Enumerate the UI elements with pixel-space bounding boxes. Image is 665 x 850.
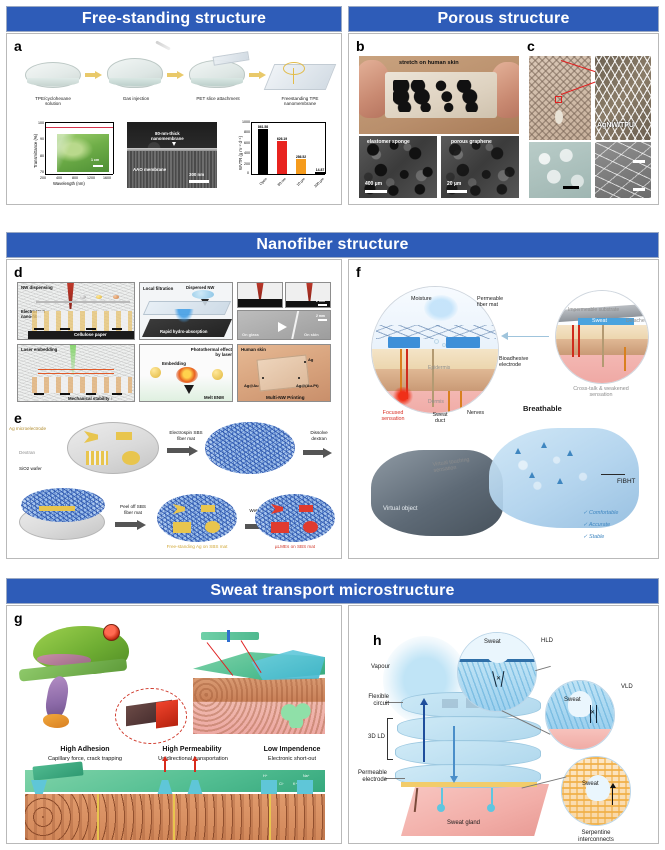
label-sweat-gland: Sweat gland xyxy=(447,820,480,827)
transmittance-plot: 1 cm 100 90 80 70 200 400 800 1200 1600 … xyxy=(25,120,117,188)
marker-label-agau: Ag@Au xyxy=(244,383,259,388)
flow-arrow-4 xyxy=(529,472,535,478)
leaf-scale-bar xyxy=(93,165,103,167)
crack-channel-2 xyxy=(173,794,175,840)
feature-title-permeability: High Permeability xyxy=(139,746,245,753)
photothermal-hotspot xyxy=(176,367,198,383)
hld-sweat-blob xyxy=(488,651,508,663)
label-3d-ld: 3D LD xyxy=(355,734,385,741)
sbs-fiber-mat-2 xyxy=(157,494,237,542)
bar-value-10um: 286.52 xyxy=(289,155,313,159)
nozzle-icon-2 xyxy=(305,282,314,301)
scale-tick-4 xyxy=(112,328,122,330)
fibht-leader xyxy=(601,474,625,475)
label-virtual-object: Virtual object xyxy=(383,506,418,513)
sem-top-arrow-icon xyxy=(172,142,176,146)
inset-label-glass: On glass xyxy=(242,332,259,337)
process-arrow-2-tail xyxy=(167,73,177,77)
scale-tick-3 xyxy=(86,328,96,330)
bar-cat-open: Open xyxy=(249,177,267,195)
dish-3-liquid xyxy=(191,78,243,86)
step-arrow-2 xyxy=(323,448,332,458)
panel-label-c: c xyxy=(527,38,535,54)
tile-title-human-skin: Human skin xyxy=(241,347,266,352)
panel-de: d NW dispensing Electrospun nano-fiber C… xyxy=(6,259,342,559)
process-arrow-1-tail xyxy=(85,73,95,77)
annotation-ag-microelectrode: Ag microelectrode xyxy=(9,426,71,432)
electrode-pattern-3 xyxy=(86,451,108,465)
circle-connector-arrow xyxy=(501,332,508,340)
step-arrow-1-tail xyxy=(167,448,189,453)
laser-beam-icon xyxy=(66,345,80,375)
tile-nw-dispensing: NW dispensing Electrospun nano-fiber Cel… xyxy=(17,282,135,340)
panel-a: a TPE/cyclohexane solution Gas injection… xyxy=(6,33,342,205)
process-arrow-2 xyxy=(177,71,184,79)
electrode-gold-film xyxy=(401,782,537,787)
sem-scale-bar xyxy=(189,180,209,183)
electrode-pattern-1 xyxy=(84,431,98,443)
ion-label-cl: Cl⁻ xyxy=(279,782,284,786)
particle-agau-nw xyxy=(96,295,102,299)
ion-label-h: H⁺ xyxy=(263,774,268,778)
transport-arrow-up-head xyxy=(420,698,428,705)
x-tick-1200: 1200 xyxy=(87,176,95,180)
label-permeable-fiber-mat: Permeable fiber mat xyxy=(477,296,531,309)
graphene-caption: porous graphene xyxy=(451,139,492,145)
nerve-right-2 xyxy=(460,391,462,414)
section-title: Sweat transport microstructure xyxy=(210,582,454,600)
ag-feature-3 xyxy=(173,522,191,533)
focused-sensation-glow xyxy=(392,387,414,405)
au-particle-left xyxy=(150,367,161,378)
lm-feature-3 xyxy=(271,522,289,533)
process-caption-1: TPE/cyclohexane solution xyxy=(17,96,89,107)
marker-ag xyxy=(304,361,306,363)
sponge-scale-label: 400 µm xyxy=(365,181,382,187)
nozzle-scale-label: 2 mm xyxy=(316,299,325,303)
melt-arrow-icon xyxy=(184,385,194,394)
tile-sub-embedding: Embedding xyxy=(162,361,186,366)
step-label-peel-off: Peel off SBS fiber mat xyxy=(111,504,155,515)
leader-hld xyxy=(535,666,551,671)
wvtr-tick-200: 200 xyxy=(244,162,250,166)
epidermis-layer xyxy=(372,369,498,391)
sem-nanowire-scale-bar-1 xyxy=(633,160,645,163)
x-tick-200: 200 xyxy=(40,176,46,180)
process-caption-3: PET slice attachment xyxy=(179,96,257,101)
transmittance-curve xyxy=(46,127,113,128)
sweat-duct-1 xyxy=(441,788,443,806)
wvtr-y-title: WVTR (g m⁻² d⁻¹) xyxy=(238,136,243,170)
sample-feature xyxy=(555,110,563,124)
hld-x-mark: ✕ xyxy=(496,675,501,682)
tile-photothermal: Photothermal effect by laser Embedding M… xyxy=(139,344,233,402)
panel-label-f: f xyxy=(356,264,361,280)
sem-top-label: 80-nm-thick nanomembrane xyxy=(151,131,184,142)
sponge-scale-bar xyxy=(365,190,387,193)
perm-arrow-2 xyxy=(192,756,198,761)
stretch-caption: stretch on human skin xyxy=(399,60,459,66)
frog-eye xyxy=(103,624,120,641)
tile-title-photothermal: Photothermal effect by laser xyxy=(180,347,232,358)
dispensing-nozzle-icon xyxy=(66,283,75,309)
impermeable-electrode-circle: ✕ Impermeable substrate Sweat Detached xyxy=(555,290,649,384)
electrode-pattern-2 xyxy=(116,432,132,440)
bioadhesive-electrode-right xyxy=(446,337,480,348)
agnw-tpu-caption: AgNW/TPU xyxy=(597,122,634,129)
bioadhesive-electrode-left xyxy=(388,337,420,348)
tile-laser-embedding: Laser embedding Mechanical stability ↑ xyxy=(17,344,135,402)
emb-scale-tick-3 xyxy=(86,393,96,395)
circuit-chip-1 xyxy=(442,699,458,708)
y-tick-70: 70 xyxy=(40,170,44,174)
label-moisture: Moisture xyxy=(411,296,432,302)
ion-channel-cluster xyxy=(279,702,313,728)
bar-value-80nm: 626.19 xyxy=(270,137,294,141)
label-vld: VLD xyxy=(621,684,633,691)
electrode-array xyxy=(393,80,489,112)
crosstalk-path-1 xyxy=(572,325,574,357)
bar-value-200um: 14.87 xyxy=(308,168,332,172)
section-banner-porous: Porous structure xyxy=(348,6,659,32)
emb-scale-tick-4 xyxy=(112,393,122,395)
embedded-fibers xyxy=(32,377,132,393)
leaf-scale-label: 1 cm xyxy=(91,158,99,162)
syringe-needle xyxy=(155,40,171,50)
graphene-scale-label: 20 µm xyxy=(447,181,461,187)
hld-circle: ✕ Sweat xyxy=(457,632,537,712)
ion-label-na: Na⁺ xyxy=(303,774,310,778)
perm-arrow-1 xyxy=(162,756,168,761)
feature-title-adhesion: High Adhesion xyxy=(31,746,139,753)
photo-nozzle-1 xyxy=(237,282,283,308)
lm-feature-2 xyxy=(299,505,313,512)
step-arrow-3 xyxy=(137,520,146,530)
feature-sub-adhesion: Capillary force, crack trapping xyxy=(25,756,145,762)
graphene-scale-bar xyxy=(447,190,467,193)
label-hld-sweat: Sweat xyxy=(484,639,501,646)
membrane-strip-marker xyxy=(227,630,230,642)
crosstalk-path-2 xyxy=(578,325,580,357)
panel-label-g: g xyxy=(14,610,23,626)
panel-label-h: h xyxy=(373,632,382,648)
bar-cat-200um: 200 µm xyxy=(306,177,324,195)
wvtr-tick-600: 600 xyxy=(244,141,250,145)
inset-circle-dashed xyxy=(115,688,187,744)
bracket-3d-ld xyxy=(387,718,393,760)
label-dermis: Dermis xyxy=(428,399,444,405)
caption-lmes-on-sbs: µLMEs on SBS mat xyxy=(255,544,335,550)
step-arrow-1 xyxy=(189,446,198,456)
wvtr-plot-area xyxy=(251,122,325,174)
process-caption-2: Gas injection xyxy=(101,96,171,101)
label-vapour: Vapour xyxy=(371,664,390,671)
circle-connector xyxy=(507,336,549,337)
marker-agau xyxy=(262,377,264,379)
sio2-wafer xyxy=(67,422,159,474)
y-tick-80: 80 xyxy=(40,154,44,158)
membrane-strip xyxy=(201,632,259,640)
stretch-photo: stretch on human skin xyxy=(359,56,519,134)
ag-feature-1 xyxy=(173,504,185,514)
panel-label-a: a xyxy=(14,38,22,54)
crack-channel-1 xyxy=(97,794,99,840)
plot-top-spine xyxy=(45,122,113,123)
plot-y-title: Transmittance (%) xyxy=(33,134,38,168)
label-epidermis: Epidermis xyxy=(428,365,450,371)
scale-tick-1 xyxy=(34,328,44,330)
label-sweat-duct: Sweat duct xyxy=(423,412,457,425)
emb-scale-tick-2 xyxy=(60,393,70,395)
bar-200um xyxy=(315,172,325,174)
feature-sub-impedance: Electronic short-out xyxy=(243,756,341,762)
panel-bc: b c stretch on human skin elastomer spon… xyxy=(348,33,659,205)
tile-footer-melt-enm: Melt ENM xyxy=(204,395,224,400)
marker-label-agaupt: Ag@(Au-Pt) xyxy=(296,383,319,388)
ag-on-mat xyxy=(39,506,75,511)
tile-human-skin: Human skin Ag Ag@Au Ag@(Au-Pt) Multi-NW … xyxy=(237,344,331,402)
label-fibht: FIBHT xyxy=(617,478,635,486)
tile-footer-multi-nw: Multi-NW Printing xyxy=(266,395,305,400)
freestanding-ring xyxy=(283,62,305,75)
serp-arrow-head xyxy=(610,783,616,788)
printed-line-scale-bar xyxy=(318,319,327,321)
section-banner-sweat: Sweat transport microstructure xyxy=(6,578,659,604)
serpentine-circle: Sweat xyxy=(561,756,631,826)
label-serpentine: Serpentine interconnects xyxy=(565,830,627,844)
vld-x-mark: ✕ xyxy=(590,709,595,716)
label-breathable: Breathable xyxy=(523,404,562,413)
moisture-droplet-1 xyxy=(434,339,439,344)
freestanding-pointer xyxy=(293,68,294,84)
step-label-dissolve: Dissolve dextran xyxy=(299,430,339,441)
wvtr-tick-400: 400 xyxy=(244,151,250,155)
panel-label-b: b xyxy=(356,38,365,54)
transport-arrow-down-head xyxy=(450,776,458,783)
flow-arrow-3 xyxy=(567,450,573,456)
sponge-caption: elastomer sponge xyxy=(367,139,410,145)
graphene-pores xyxy=(441,136,519,198)
tile-title-laser-embedding: Laser embedding xyxy=(21,347,57,352)
wvtr-tick-0: 0 xyxy=(247,171,249,175)
section-banner-free-standing: Free-standing structure xyxy=(6,6,342,32)
tile-footer-filtration: Rapid hydro-absorption xyxy=(160,329,207,334)
bar-open xyxy=(258,129,268,174)
bar-cat-10um: 10 µm xyxy=(287,177,305,195)
agnw-overview-image xyxy=(529,56,591,140)
au-particle-right xyxy=(212,369,223,380)
transport-arrow-down-shaft xyxy=(453,726,455,778)
plot-y-axis-right xyxy=(113,122,114,174)
dispensing-rail xyxy=(36,301,130,303)
sem-pore-image xyxy=(529,142,591,198)
flow-arrow-5 xyxy=(557,478,563,484)
sweat-duct-right xyxy=(602,325,604,367)
label-detached: Detached xyxy=(626,318,647,324)
nerve-right-1 xyxy=(448,391,450,414)
sweat-duct-2 xyxy=(491,788,493,806)
x-tick-1600: 1600 xyxy=(103,176,111,180)
panel-h: h Vapour Flexible circuit 3D LD Permeabl… xyxy=(348,605,659,844)
sem-nanowire-scale-bar-2 xyxy=(633,188,645,191)
lm-feature-1 xyxy=(271,504,283,514)
leader-permeable-electrode xyxy=(385,778,405,779)
transfer-arrow-icon xyxy=(278,322,287,332)
tile-footer-cellulose: Cellulose paper xyxy=(74,332,107,337)
label-permeable-electrode: Permeable electrode xyxy=(353,770,387,784)
annotation-sio2-wafer: SiO2 wafer xyxy=(19,466,63,472)
x-tick-400: 400 xyxy=(56,176,62,180)
label-hld: HLD xyxy=(541,638,553,645)
step-label-electrospin: Electrospin SBS fiber mat xyxy=(163,430,209,441)
lm-feature-4 xyxy=(303,521,318,533)
sem-elastomer-sponge: elastomer sponge 400 µm xyxy=(359,136,437,198)
photo-nozzle-2: 2 mm xyxy=(285,282,331,308)
sbs-fiber-mat-3 xyxy=(255,494,335,542)
inset-label-skin: On skin xyxy=(304,332,319,337)
marker-label-ag: Ag xyxy=(308,357,313,362)
plot-y-axis xyxy=(45,122,46,174)
printed-line-scale-label: 2 mm xyxy=(316,314,325,318)
vld-circle: ✕ Sweat xyxy=(545,680,615,750)
wvtr-tick-1000: 1000 xyxy=(242,120,250,124)
panel-label-e: e xyxy=(14,410,22,426)
dish-2-liquid xyxy=(109,78,161,86)
ld-layer-2 xyxy=(395,740,541,766)
nozzle-icon-1 xyxy=(255,282,265,299)
frog-foot xyxy=(43,714,69,728)
figure-root: Free-standing structure Porous structure… xyxy=(0,0,665,850)
caption-free-standing-ag: Free-standing Ag on SBS mat xyxy=(157,544,237,550)
x-tick-800: 800 xyxy=(72,176,78,180)
tile-local-filtration: Local filtration Dispersed NW Rapid hydr… xyxy=(139,282,233,340)
process-arrow-1 xyxy=(95,71,102,79)
process-arrow-3-tail xyxy=(249,73,259,77)
nozzle-scale-bar xyxy=(318,304,327,306)
benefit-comfortable: ✓ Comfortable xyxy=(583,510,618,516)
moisture-droplet-2 xyxy=(442,343,446,347)
sem-bottom-label: AAO membrane xyxy=(133,167,166,172)
photo-printed-line: On glass On skin 2 mm xyxy=(237,310,331,340)
emb-scale-tick-1 xyxy=(34,393,44,395)
sem-porous-graphene: porous graphene 20 µm xyxy=(441,136,519,198)
section-banner-nanofiber: Nanofiber structure xyxy=(6,232,659,258)
adhesion-block-red xyxy=(156,699,178,728)
label-serp-sweat: Sweat xyxy=(582,781,599,788)
plot-x-title: Wavelength (nm) xyxy=(53,181,85,186)
sem-scale-label: 300 nm xyxy=(189,172,204,177)
plot-x-axis xyxy=(45,174,113,175)
sponge-pores xyxy=(359,136,437,198)
laser-scan-line-2 xyxy=(38,373,114,374)
ag-feature-4 xyxy=(205,521,220,533)
skin-base xyxy=(401,784,549,836)
benefit-accurate: ✓ Accurate xyxy=(583,522,610,528)
label-nerves: Nerves xyxy=(467,410,484,416)
panel-g: g High Adhesion Capillary force, crack t… xyxy=(6,605,342,844)
bar-value-open: 861.58 xyxy=(251,125,275,129)
vld-skin-layer xyxy=(546,729,615,750)
step-arrow-3-tail xyxy=(115,522,137,527)
wvtr-chart: 1000 800 600 400 200 0 861.58 626.19 286… xyxy=(229,120,334,190)
ion-label-k: K⁺ xyxy=(293,782,297,786)
dish-1-liquid xyxy=(27,78,79,86)
hld-fiber-layer xyxy=(458,662,536,712)
check-icon-left: ✓ xyxy=(382,305,387,312)
process-arrow-3 xyxy=(259,71,266,79)
ag-feature-2 xyxy=(201,505,215,512)
marker-agaupt xyxy=(298,377,300,379)
ion-path-anchor-1 xyxy=(261,780,277,794)
label-bioadhesive-electrode: Bioadhesive electrode xyxy=(499,356,551,369)
cross-icon-right: ✕ xyxy=(562,295,567,302)
wvtr-tick-800: 800 xyxy=(244,130,250,134)
bar-10um xyxy=(296,159,306,174)
panel-f: f ✓ Epidermis Dermis Moisture Permeable … xyxy=(348,259,659,559)
wvtr-x-axis xyxy=(251,174,325,175)
sem-nanowire-image xyxy=(595,142,651,198)
perm-arrow-1-tail xyxy=(164,760,166,772)
bar-cat-80nm: 80 nm xyxy=(268,177,286,195)
crack-channel-3 xyxy=(269,794,271,840)
label-vld-sweat: Sweat xyxy=(564,697,581,704)
label-flexible-circuit: Flexible circuit xyxy=(355,694,389,708)
perm-arrow-2-tail xyxy=(194,760,196,772)
flow-arrow-1 xyxy=(515,448,521,454)
serp-arrow-shaft xyxy=(612,787,613,805)
transport-arrow-up-shaft xyxy=(423,702,425,762)
step-arrow-2-tail xyxy=(303,450,323,455)
absorption-flow xyxy=(174,309,194,323)
agnw-zoom-image: AgNW/TPU xyxy=(595,56,651,140)
sem-pore-scale-bar xyxy=(563,186,579,189)
bar-80nm xyxy=(277,141,287,174)
y-tick-100: 100 xyxy=(38,121,44,125)
section-title: Nanofiber structure xyxy=(256,236,408,254)
benefit-stable: ✓ Stable xyxy=(583,534,604,540)
caption-crosstalk: Cross-talk & weakened sensation xyxy=(561,386,641,399)
sbs-fiber-mat-1 xyxy=(205,422,295,474)
section-title: Free-standing structure xyxy=(82,10,266,28)
wvtr-y-axis-right xyxy=(325,122,326,174)
label-impermeable-substrate: Impermeable substrate xyxy=(568,307,619,313)
y-tick-90: 90 xyxy=(40,137,44,141)
nerve-right-blocked xyxy=(624,347,626,371)
label-focused-sensation: Focused sensation xyxy=(369,410,417,423)
particle-agaupt-nw xyxy=(113,295,119,299)
annotation-dextran: Dextran xyxy=(19,450,59,456)
feature-title-impedance: Low Impendence xyxy=(245,746,339,753)
tile-title-nw-dispensing: NW dispensing xyxy=(21,285,53,290)
panel-label-d: d xyxy=(14,264,23,280)
sem-cross-section: 80-nm-thick nanomembrane AAO membrane 30… xyxy=(127,122,217,188)
tile-title-local-filtration: Local filtration xyxy=(143,286,173,291)
vld-arrow-2 xyxy=(596,705,597,723)
sbs-fiber-mat-peel xyxy=(21,488,105,522)
laser-scan-line-1 xyxy=(38,369,114,370)
electrode-pattern-4 xyxy=(122,451,140,465)
label-sweat-trapped: Sweat xyxy=(592,318,607,324)
particle-ag-nw xyxy=(80,295,86,299)
zoom-region-box xyxy=(555,96,562,103)
scale-tick-2 xyxy=(60,328,70,330)
photo-nozzle-1-base xyxy=(238,299,283,308)
flow-arrow-2 xyxy=(541,442,547,448)
printed-line xyxy=(290,310,300,340)
tile-footer-mech-stability: Mechanical stability ↑ xyxy=(68,396,113,401)
droplet-icon xyxy=(192,290,214,299)
process-caption-4: Freestanding TPE nanomembrane xyxy=(263,96,337,107)
